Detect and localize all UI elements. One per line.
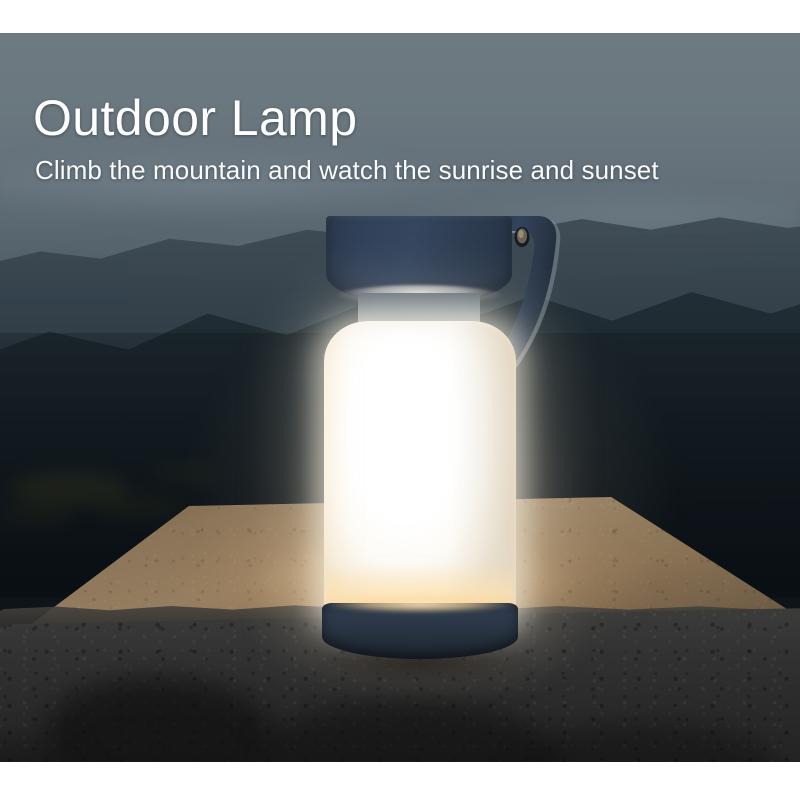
product-banner: Outdoor Lamp Climb the mountain and watc… (0, 0, 800, 800)
base-light-seam (324, 597, 516, 615)
scene-photo: Outdoor Lamp Climb the mountain and watc… (0, 33, 800, 762)
letterbox-top (0, 0, 800, 33)
letterbox-bottom (0, 762, 800, 800)
outdoor-lamp-product (300, 173, 560, 673)
